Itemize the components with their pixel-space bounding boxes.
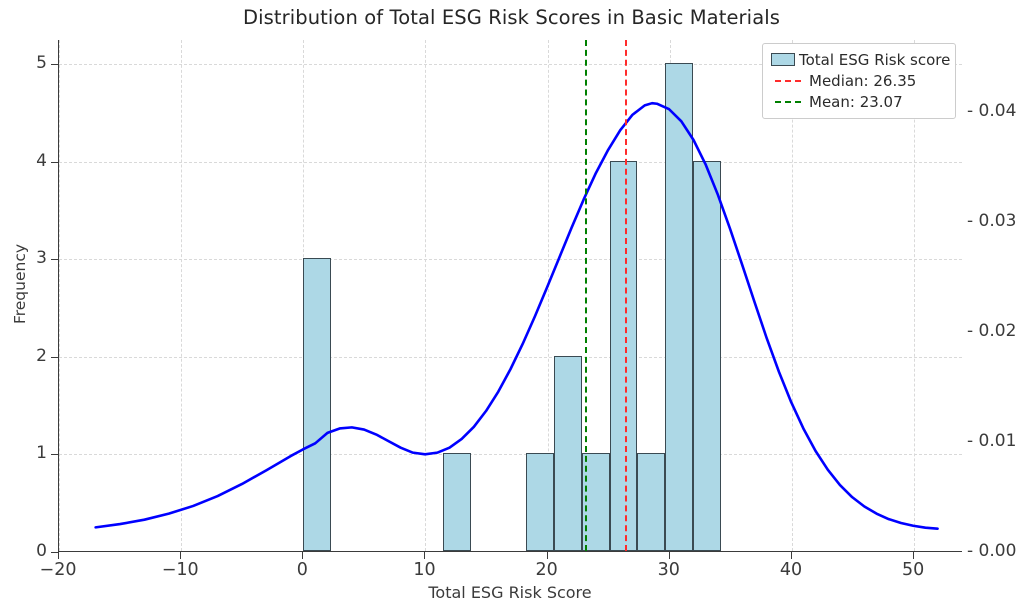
legend-dashed-line-icon [775,101,801,103]
y-tick-label: 4 [7,151,47,171]
x-tick-label: −10 [150,560,210,580]
legend-label: Mean: 23.07 [805,93,903,111]
x-tick-label: 40 [761,560,821,580]
x-axis-label: Total ESG Risk Score [58,583,962,602]
legend-dashed-line-icon [775,80,801,82]
x-tick-mark [424,552,425,559]
median-line [625,40,627,551]
legend-label: Total ESG Risk score [795,51,950,69]
y-tick-mark [51,552,58,553]
legend-item[interactable]: Total ESG Risk score [771,49,947,70]
x-tick-label: 50 [883,560,943,580]
y-tick-label: 5 [7,53,47,73]
y-axis-label: Frequency [11,204,29,364]
legend-item[interactable]: Median: 26.35 [771,70,947,91]
x-tick-mark [913,552,914,559]
y-tick-label: 1 [7,443,47,463]
x-tick-mark [669,552,670,559]
x-tick-mark [58,552,59,559]
x-tick-label: −20 [28,560,88,580]
y-tick-mark [51,64,58,65]
y-tick-label-right: - 0.03 [967,211,1016,231]
y-tick-label: 0 [7,541,47,561]
y-tick-mark [51,259,58,260]
x-tick-mark [547,552,548,559]
y-tick-label-right: - 0.04 [967,101,1016,121]
x-tick-label: 0 [272,560,332,580]
page-title: Distribution of Total ESG Risk Scores in… [0,6,1023,29]
legend-item[interactable]: Mean: 23.07 [771,91,947,112]
legend-swatch [771,53,795,66]
x-tick-label: 30 [639,560,699,580]
y-tick-label-right: - 0.00 [967,541,1016,561]
chart-figure: Distribution of Total ESG Risk Scores in… [0,0,1023,614]
x-tick-label: 20 [517,560,577,580]
y-tick-label-right: - 0.01 [967,431,1016,451]
y-tick-label-right: - 0.02 [967,321,1016,341]
y-tick-mark [51,162,58,163]
legend-swatch [771,80,805,82]
legend-patch-icon [771,53,795,66]
x-tick-mark [791,552,792,559]
x-tick-mark [180,552,181,559]
x-tick-label: 10 [394,560,454,580]
x-tick-mark [302,552,303,559]
y-tick-mark [51,454,58,455]
mean-line [585,40,587,551]
y-tick-mark [51,357,58,358]
legend-swatch [771,101,805,103]
chart-legend[interactable]: Total ESG Risk scoreMedian: 26.35Mean: 2… [762,43,956,119]
legend-label: Median: 26.35 [805,72,916,90]
